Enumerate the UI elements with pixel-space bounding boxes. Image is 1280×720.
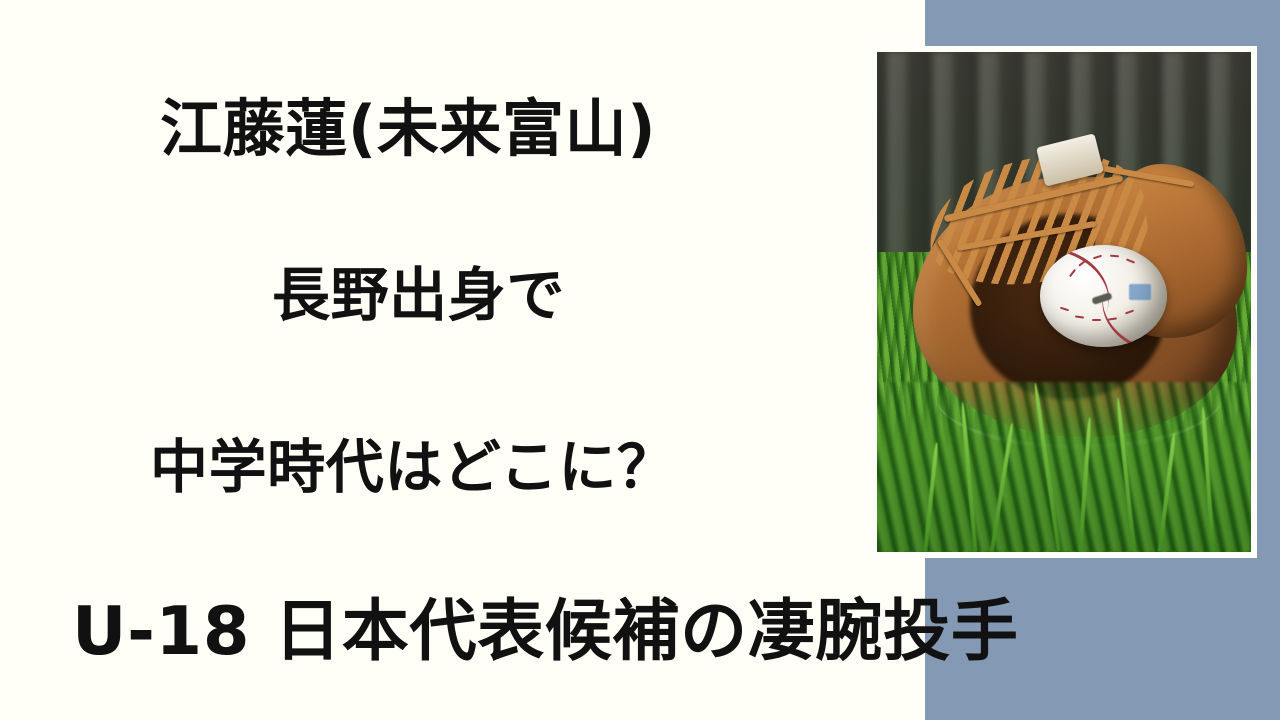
baseball-glove-photo bbox=[877, 52, 1251, 552]
headline-line-4: U-18 日本代表候補の凄腕投手 bbox=[72, 577, 1019, 674]
headline-line-1: 江藤蓮(未来富山) bbox=[160, 78, 656, 168]
headline-line-3: 中学時代はどこに？ bbox=[150, 420, 675, 504]
headline-line-2: 長野出身で bbox=[272, 248, 565, 332]
baseball-icon bbox=[1040, 245, 1167, 347]
photo-card bbox=[871, 46, 1257, 558]
thumbnail-canvas: 江藤蓮(未来富山) 長野出身で 中学時代はどこに？ U-18 日本代表候補の凄腕… bbox=[0, 0, 1280, 720]
